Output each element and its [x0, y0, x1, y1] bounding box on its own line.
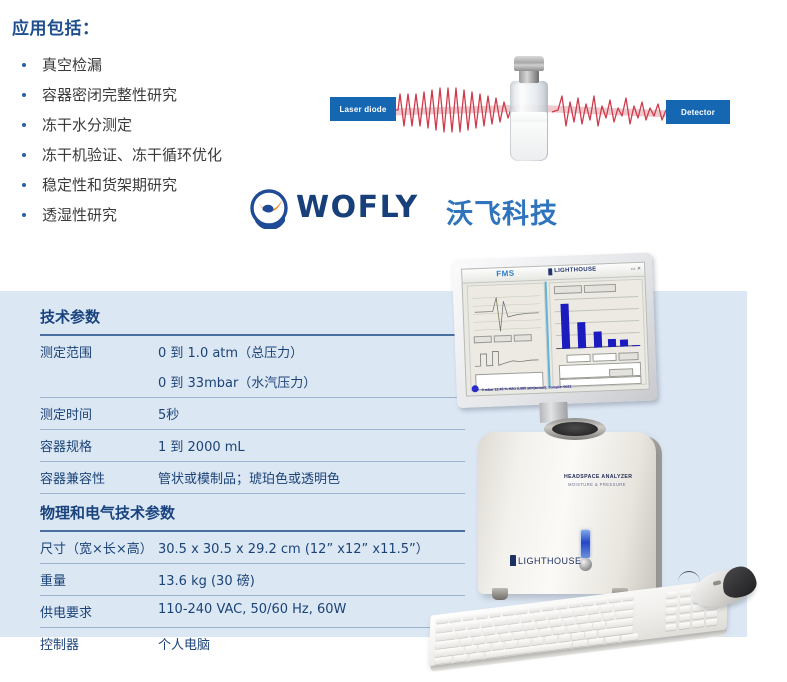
software-button[interactable] — [474, 336, 492, 344]
keyboard-key[interactable] — [497, 625, 509, 633]
keyboard-key[interactable] — [500, 633, 512, 641]
computer-monitor: FMS LIGHTHOUSE ▭ ✕ — [452, 252, 670, 435]
keyboard-key[interactable] — [453, 654, 467, 661]
keyboard-key[interactable] — [622, 595, 634, 601]
software-input[interactable] — [566, 354, 590, 363]
keyboard-key[interactable] — [463, 614, 475, 620]
logo-chinese-name: 沃飞科技 — [446, 192, 558, 231]
keyboard-key[interactable] — [601, 604, 613, 612]
spec-key: 测定范围 — [40, 342, 158, 391]
specifications-table: 技术参数 测定范围 0 到 1.0 atm（总压力） 0 到 33mbar（水汽… — [40, 300, 465, 659]
keyboard-key[interactable] — [589, 638, 603, 645]
keyboard-key[interactable] — [593, 621, 605, 629]
list-item: 真空检漏 — [14, 55, 314, 75]
unit-label-secondary: MOISTURE & PRESSURE — [568, 482, 626, 487]
lighthouse-mark-icon — [548, 268, 552, 275]
keyboard-key[interactable] — [679, 614, 691, 621]
spec-value: 30.5 x 30.5 x 29.2 cm (12” x12” x11.5”） — [158, 538, 465, 557]
software-tab-button[interactable] — [584, 284, 616, 293]
keyboard-key[interactable] — [476, 612, 488, 618]
keyboard-key[interactable] — [576, 615, 588, 623]
bullet-icon — [22, 183, 26, 187]
keyboard-key[interactable] — [706, 610, 718, 617]
keyboard-key[interactable] — [609, 596, 621, 602]
spec-key: 供电要求 — [40, 602, 158, 621]
spec-key: 控制器 — [40, 634, 158, 653]
spec-value: 0 到 1.0 atm（总压力） 0 到 33mbar（水汽压力） — [158, 342, 465, 391]
keyboard-key[interactable] — [527, 629, 539, 637]
vial-neck — [519, 70, 539, 83]
unit-label-primary: HEADSPACE ANALYZER — [564, 474, 632, 480]
keyboard-key[interactable] — [487, 634, 499, 642]
keyboard-key[interactable] — [510, 623, 522, 631]
list-item-label: 冻干水分测定 — [42, 116, 132, 134]
list-item-label: 真空检漏 — [42, 56, 102, 74]
waveform-plot-icon — [474, 344, 539, 372]
keyboard-key[interactable] — [679, 622, 691, 629]
keyboard-key[interactable] — [679, 606, 691, 613]
software-app-title: FMS — [496, 269, 515, 279]
keyboard-key[interactable] — [505, 640, 517, 648]
detector-label: Detector — [666, 100, 730, 124]
chart-bar — [620, 340, 628, 347]
keyboard-key[interactable] — [521, 614, 533, 622]
keyboard-key[interactable] — [680, 589, 692, 596]
keyboard-key[interactable] — [468, 621, 480, 629]
chart-bar — [632, 345, 640, 346]
lighthouse-mark-icon — [510, 555, 516, 566]
wofly-mark-icon — [248, 187, 290, 229]
keyboard-key[interactable] — [537, 620, 549, 628]
keyboard-key[interactable] — [563, 617, 575, 625]
product-spec-slide: 应用包括： 真空检漏 容器密闭完整性研究 冻干水分测定 冻干机验证、冻干循环优化… — [0, 0, 787, 682]
chart-bar — [560, 303, 570, 349]
keyboard-key[interactable] — [554, 626, 566, 634]
table-row: 容器规格 1 到 2000 mL — [40, 430, 465, 462]
keyboard-key[interactable] — [483, 627, 495, 635]
keyboard-key[interactable] — [516, 608, 528, 614]
sample-vial-icon — [506, 56, 552, 164]
keyboard-key[interactable] — [519, 638, 531, 646]
spec-value: 5秒 — [158, 404, 465, 423]
keyboard-key[interactable] — [706, 619, 718, 626]
spec-value-line2: 0 到 33mbar（水汽压力） — [158, 372, 465, 391]
keyboard-key[interactable] — [547, 611, 559, 619]
keyboard-key[interactable] — [665, 624, 677, 631]
software-button[interactable] — [514, 334, 532, 342]
keyboard-key[interactable] — [489, 611, 501, 617]
spec-key: 重量 — [40, 570, 158, 589]
keyboard-key[interactable] — [596, 598, 608, 604]
keyboard-key[interactable] — [666, 599, 678, 606]
keyboard-key[interactable] — [666, 607, 678, 614]
keyboard-key[interactable] — [457, 630, 469, 638]
software-left-pane — [467, 283, 549, 392]
table-row: 测定范围 0 到 1.0 atm（总压力） 0 到 33mbar（水汽压力） — [40, 336, 465, 398]
keyboard-key[interactable] — [542, 604, 554, 610]
chart-bar — [608, 339, 616, 347]
bullet-icon — [22, 123, 26, 127]
keyboard-key[interactable] — [460, 638, 472, 646]
table-row: 控制器 个人电脑 — [40, 628, 465, 659]
spec-value: 110-240 VAC, 50/60 Hz, 60W — [158, 602, 465, 621]
list-item: 冻干水分测定 — [14, 115, 314, 135]
keyboard-key[interactable] — [561, 609, 573, 617]
list-item: 容器密闭完整性研究 — [14, 85, 314, 105]
mouse-cord — [678, 571, 700, 582]
spec-value: 13.6 kg (30 磅) — [158, 570, 465, 589]
spec-section-heading-technical: 技术参数 — [40, 300, 465, 336]
software-button[interactable] — [494, 335, 512, 343]
list-item-label: 透湿性研究 — [42, 206, 117, 224]
software-input[interactable] — [559, 376, 641, 387]
software-right-pane — [549, 279, 647, 389]
keyboard-key[interactable] — [435, 656, 452, 664]
keyboard-key[interactable] — [692, 620, 704, 627]
spec-value: 管状或模制品；琥珀色或透明色 — [158, 468, 465, 487]
vial-contents — [511, 118, 547, 160]
keyboard-key[interactable] — [470, 628, 482, 636]
table-row: 供电要求 110-240 VAC, 50/60 Hz, 60W — [40, 596, 465, 628]
logo-wordmark: WOFLY — [296, 190, 419, 225]
keyboard-key[interactable] — [569, 601, 581, 607]
keyboard-key[interactable] — [621, 633, 638, 641]
keyboard-key[interactable] — [580, 623, 592, 631]
keyboard-key[interactable] — [508, 616, 520, 624]
spec-key: 容器兼容性 — [40, 468, 158, 487]
spec-value-line1: 0 到 1.0 atm（总压力） — [158, 346, 303, 361]
keyboard-key[interactable] — [556, 603, 568, 609]
software-input[interactable] — [592, 353, 616, 362]
keyboard-key[interactable] — [567, 624, 579, 632]
keyboard-key[interactable] — [523, 622, 535, 630]
laser-detection-diagram: Laser diode Detector — [330, 52, 730, 172]
status-indicator-icon — [472, 385, 479, 392]
keyboard-key[interactable] — [529, 606, 541, 612]
unit-foot — [492, 588, 508, 600]
keyboard-key[interactable] — [514, 631, 526, 639]
keyboard-key[interactable] — [492, 642, 504, 650]
gridline — [554, 296, 638, 300]
keyboard-key[interactable] — [534, 612, 546, 620]
line-chart-icon — [472, 290, 542, 337]
window-controls[interactable]: ▭ ✕ — [631, 266, 642, 272]
keyboard-key[interactable] — [474, 636, 486, 644]
keyboard-key[interactable] — [550, 619, 562, 627]
software-tab-button[interactable] — [554, 285, 582, 294]
list-item-label: 冻干机验证、冻干循环优化 — [42, 146, 222, 164]
keyboard-key[interactable] — [587, 606, 599, 614]
keyboard-key[interactable] — [573, 640, 587, 647]
monitor-screen: FMS LIGHTHOUSE ▭ ✕ — [461, 262, 650, 397]
keyboard-key[interactable] — [665, 615, 677, 622]
keyboard-key[interactable] — [481, 619, 493, 627]
spec-section-heading-physical: 物理和电气技术参数 — [40, 496, 465, 532]
list-item-label: 容器密闭完整性研究 — [42, 86, 177, 104]
applications-title: 应用包括： — [12, 14, 100, 39]
keyboard-key[interactable] — [503, 609, 515, 615]
list-item: 冻干机验证、冻干循环优化 — [14, 145, 314, 165]
computer-mouse[interactable] — [692, 565, 758, 611]
keyboard-key[interactable] — [590, 614, 602, 622]
sample-port-opening[interactable] — [552, 422, 598, 436]
spec-value: 1 到 2000 mL — [158, 436, 465, 455]
table-row: 尺寸（宽×长×高） 30.5 x 30.5 x 29.2 cm (12” x12… — [40, 532, 465, 564]
keyboard-key[interactable] — [465, 645, 477, 653]
list-item-label: 稳定性和货架期研究 — [42, 176, 177, 194]
table-row: 测定时间 5秒 — [40, 398, 465, 430]
headspace-analyzer-unit: HEADSPACE ANALYZER MOISTURE & PRESSURE L… — [478, 418, 678, 604]
keyboard-key[interactable] — [559, 634, 571, 642]
bullet-icon — [22, 213, 26, 217]
bullet-icon — [22, 153, 26, 157]
keyboard-key[interactable] — [574, 607, 586, 615]
unit-body — [478, 432, 656, 594]
vial-cap — [514, 56, 544, 71]
wofly-logo: WOFLY 沃飞科技 — [248, 185, 558, 231]
keyboard-key[interactable] — [449, 616, 461, 622]
keyboard-key[interactable] — [494, 617, 506, 625]
spec-key: 容器规格 — [40, 436, 158, 455]
keyboard-key[interactable] — [454, 622, 466, 630]
keyboard-key[interactable] — [545, 635, 557, 643]
table-row: 重量 13.6 kg (30 磅) — [40, 564, 465, 596]
bullet-icon — [22, 93, 26, 97]
unit-brand: LIGHTHOUSE — [518, 556, 582, 566]
software-button[interactable] — [618, 352, 638, 361]
keyboard-key[interactable] — [479, 643, 491, 651]
keyboard-key[interactable] — [666, 591, 678, 598]
keyboard-key[interactable] — [572, 632, 584, 640]
status-light-indicator — [581, 530, 590, 558]
keyboard-key[interactable] — [540, 628, 552, 636]
headspace-bar-chart — [554, 294, 640, 349]
keyboard-key[interactable] — [585, 630, 597, 638]
keyboard-key[interactable] — [436, 617, 448, 623]
table-row: 容器兼容性 管状或模制品；琥珀色或透明色 — [40, 462, 465, 494]
chart-bar — [577, 322, 586, 349]
laser-diode-label: Laser diode — [330, 97, 396, 121]
chart-bar — [594, 331, 603, 348]
bullet-icon — [22, 63, 26, 67]
keyboard-key[interactable] — [582, 599, 594, 605]
keyboard-key[interactable] — [605, 636, 619, 643]
spec-key: 尺寸（宽×长×高） — [40, 538, 158, 557]
spec-key: 测定时间 — [40, 404, 158, 423]
spec-value: 个人电脑 — [158, 634, 465, 653]
keyboard-key[interactable] — [679, 598, 691, 605]
vial-contents-top — [511, 112, 547, 122]
keyboard-key[interactable] — [469, 652, 483, 659]
keyboard-key[interactable] — [692, 612, 704, 619]
keyboard-key[interactable] — [532, 637, 544, 645]
keyboard-key[interactable] — [603, 612, 615, 620]
